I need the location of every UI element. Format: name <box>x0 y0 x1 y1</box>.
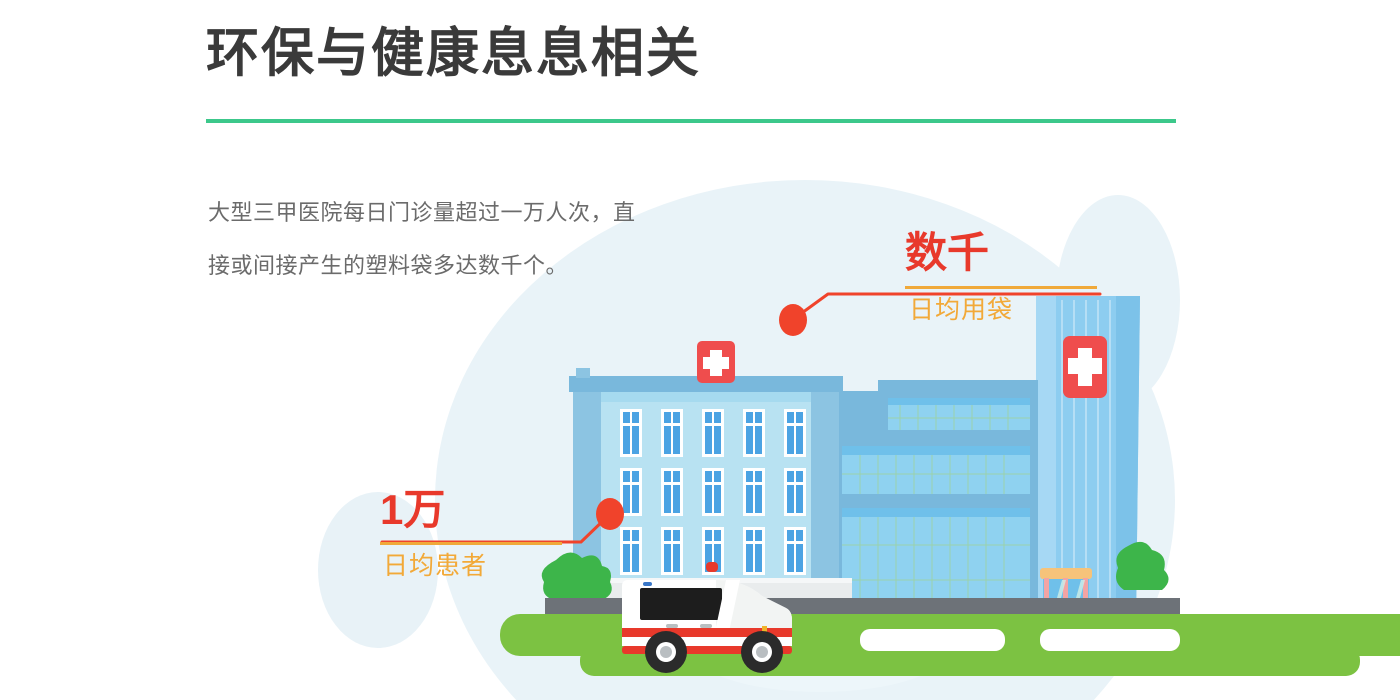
callout-daily-bags-label: 日均用袋 <box>905 298 1097 323</box>
body-paragraph: 大型三甲医院每日门诊量超过一万人次，直接或间接产生的塑料袋多达数千个。 <box>208 186 638 292</box>
slide-canvas: 环保与健康息息相关 大型三甲医院每日门诊量超过一万人次，直接或间接产生的塑料袋多… <box>0 0 1400 700</box>
title-underline-rule <box>206 119 1176 123</box>
callout-daily-patients-value: 1万 <box>380 489 562 531</box>
glass-band <box>888 398 1030 430</box>
callout-daily-patients: 1万 日均患者 <box>380 489 562 579</box>
callout-daily-bags-value: 数千 <box>905 232 1097 274</box>
hospital-illustration <box>0 0 1400 700</box>
ambulance-wheel <box>741 631 783 673</box>
callout-daily-patients-label: 日均患者 <box>380 554 562 579</box>
callout-daily-bags-rule <box>905 286 1097 289</box>
page-title: 环保与健康息息相关 <box>206 24 701 85</box>
hospital-glass-block <box>832 380 1038 622</box>
callout-daily-bags: 数千 日均用袋 <box>905 232 1097 323</box>
red-cross-sign-tower <box>1063 336 1107 398</box>
ambulance-wheel <box>645 631 687 673</box>
red-cross-sign-roof <box>697 341 735 383</box>
glass-band <box>842 446 1030 494</box>
callout-daily-patients-rule <box>380 542 562 545</box>
